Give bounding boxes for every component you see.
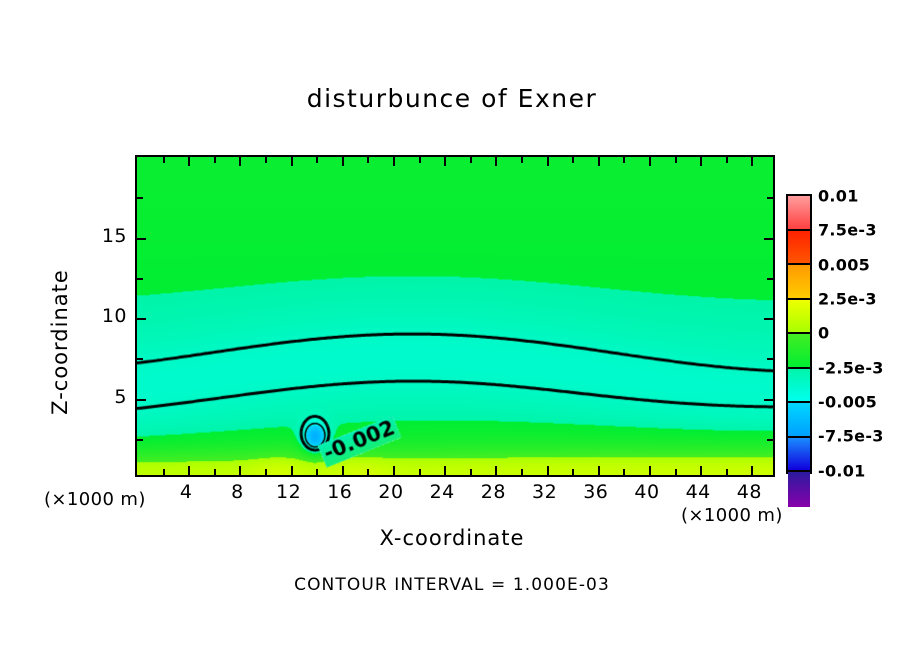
axis-tick <box>137 278 143 280</box>
contour-field-canvas <box>137 157 773 475</box>
axis-tick <box>137 197 143 199</box>
axis-tick <box>675 469 677 475</box>
axis-tick <box>495 466 497 475</box>
y-axis-title: Z-coordinate <box>48 232 72 452</box>
colorbar-tick-label: 7.5e-3 <box>818 221 877 240</box>
axis-tick <box>137 358 143 360</box>
axis-tick <box>214 469 216 475</box>
colorbar-band <box>788 334 810 369</box>
axis-tick <box>675 157 677 163</box>
axis-tick <box>137 439 143 441</box>
axis-tick <box>188 157 190 166</box>
x-units-right-label: (×1000 m) <box>681 505 783 526</box>
x-tick-label: 8 <box>231 481 244 503</box>
x-tick-label: 16 <box>327 481 352 503</box>
axis-tick <box>764 238 773 240</box>
y-tick-label: 5 <box>114 386 127 408</box>
axis-tick <box>316 157 318 163</box>
x-axis-title: X-coordinate <box>0 526 904 550</box>
x-tick-label: 24 <box>430 481 455 503</box>
colorbar-band <box>788 231 810 266</box>
axis-tick <box>598 466 600 475</box>
axis-tick <box>137 238 146 240</box>
axis-tick <box>649 157 651 166</box>
axis-tick <box>137 318 146 320</box>
x-tick-label: 44 <box>686 481 711 503</box>
colorbar-tick-label: 0.01 <box>818 187 859 206</box>
axis-tick <box>444 466 446 475</box>
axis-tick <box>495 157 497 166</box>
x-tick-label: 28 <box>481 481 506 503</box>
axis-tick <box>239 157 241 166</box>
axis-tick <box>649 466 651 475</box>
colorbar-tick-label: -2.5e-3 <box>818 358 884 377</box>
x-tick-label: 32 <box>532 481 557 503</box>
axis-tick <box>764 399 773 401</box>
axis-tick <box>767 278 773 280</box>
colorbar-band <box>788 300 810 335</box>
axis-tick <box>393 157 395 166</box>
axis-tick <box>547 157 549 166</box>
axis-tick <box>163 469 165 475</box>
y-tick-label: 15 <box>102 225 127 247</box>
axis-tick <box>521 157 523 163</box>
axis-tick <box>700 157 702 166</box>
axis-tick <box>726 157 728 163</box>
colorbar-band <box>788 196 810 231</box>
colorbar-tick-label: 0 <box>818 324 829 343</box>
colorbar-tick-label: -7.5e-3 <box>818 427 884 446</box>
axis-tick <box>572 157 574 163</box>
axis-tick <box>521 469 523 475</box>
axis-tick <box>367 157 369 163</box>
axis-tick <box>291 157 293 166</box>
colorbar-tick-label: -0.005 <box>818 392 877 411</box>
colorbar-band <box>788 265 810 300</box>
axis-tick <box>444 157 446 166</box>
colorbar-tick-label: 2.5e-3 <box>818 289 877 308</box>
axis-tick <box>137 399 146 401</box>
axis-tick <box>764 318 773 320</box>
axis-tick <box>419 469 421 475</box>
axis-tick <box>393 466 395 475</box>
colorbar-tick-label: -0.01 <box>818 461 866 480</box>
contour-interval-label: CONTOUR INTERVAL = 1.000E-03 <box>0 575 904 595</box>
axis-tick <box>470 469 472 475</box>
axis-tick <box>598 157 600 166</box>
axis-tick <box>239 466 241 475</box>
x-tick-label: 40 <box>634 481 659 503</box>
axis-tick <box>767 439 773 441</box>
x-tick-label: 36 <box>583 481 608 503</box>
axis-tick <box>767 197 773 199</box>
contour-plot-area[interactable] <box>135 155 775 477</box>
axis-tick <box>700 466 702 475</box>
axis-tick <box>291 466 293 475</box>
axis-tick <box>188 466 190 475</box>
colorbar-band <box>788 403 810 438</box>
axis-tick <box>163 157 165 163</box>
axis-tick <box>572 469 574 475</box>
axis-tick <box>342 157 344 166</box>
x-units-left-label: (×1000 m) <box>44 489 146 510</box>
x-tick-label: 48 <box>737 481 762 503</box>
x-tick-label: 12 <box>276 481 301 503</box>
axis-tick <box>214 157 216 163</box>
page-title: disturbunce of Exner <box>0 84 904 113</box>
axis-tick <box>751 157 753 166</box>
axis-tick <box>547 466 549 475</box>
axis-tick <box>265 469 267 475</box>
axis-tick <box>265 157 267 163</box>
axis-tick <box>726 469 728 475</box>
axis-tick <box>470 157 472 163</box>
axis-tick <box>751 466 753 475</box>
x-tick-label: 4 <box>180 481 193 503</box>
colorbar[interactable] <box>786 194 812 474</box>
x-tick-label: 20 <box>378 481 403 503</box>
axis-tick <box>367 469 369 475</box>
axis-tick <box>342 466 344 475</box>
axis-tick <box>767 358 773 360</box>
colorbar-band <box>788 438 810 473</box>
colorbar-tick-label: 0.005 <box>818 255 870 274</box>
axis-tick <box>316 469 318 475</box>
axis-tick <box>419 157 421 163</box>
colorbar-band <box>788 369 810 404</box>
axis-tick <box>623 157 625 163</box>
y-tick-label: 10 <box>102 305 127 327</box>
axis-tick <box>623 469 625 475</box>
colorbar-band <box>788 472 810 507</box>
